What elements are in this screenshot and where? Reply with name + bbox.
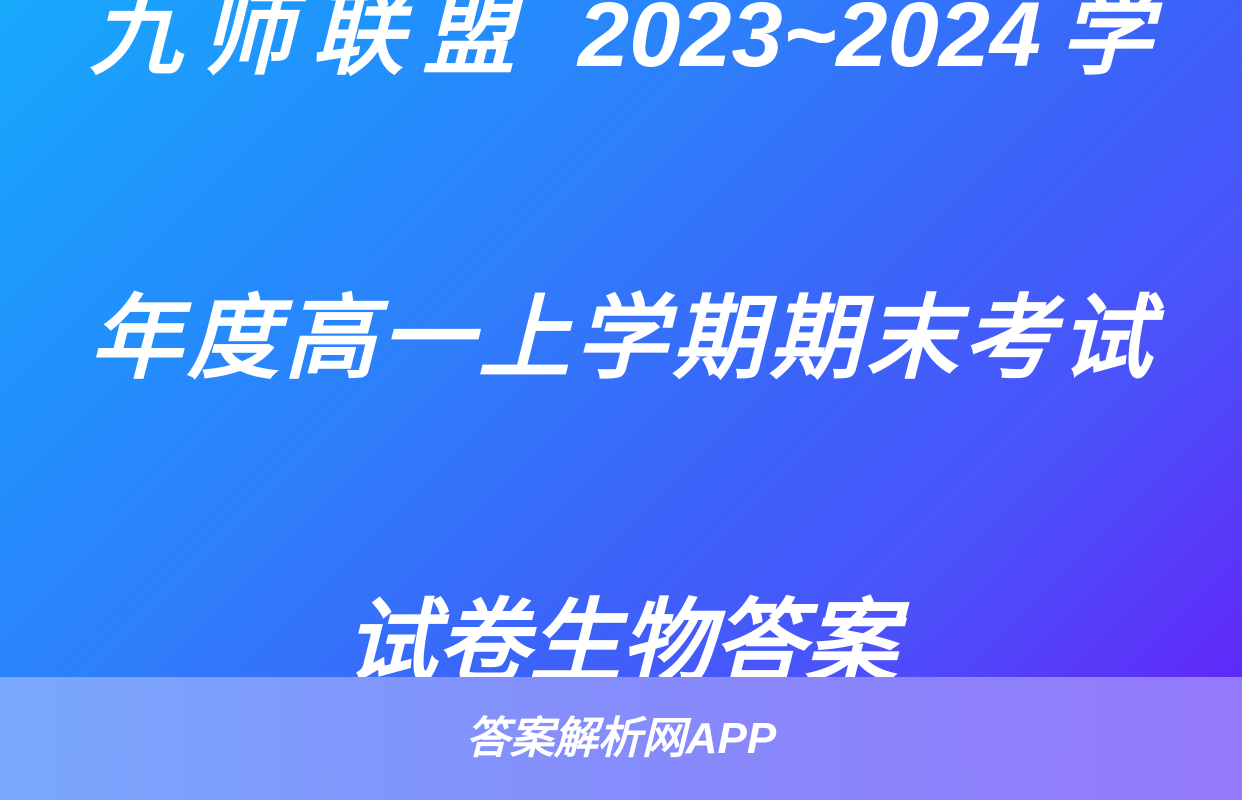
poster-root: 九师联盟 2023~2024学 年度高一上学期期末考试 试卷生物答案 答案解析网… xyxy=(0,0,1242,800)
footer-brand-bar: 答案解析网APP xyxy=(0,677,1242,800)
page-title-line-2: 年度高一上学期期末考试 xyxy=(90,263,1152,415)
hero-banner: 九师联盟 2023~2024学 年度高一上学期期末考试 试卷生物答案 xyxy=(0,0,1242,677)
page-title-line-1: 九师联盟 2023~2024学 xyxy=(90,0,1152,111)
app-brand-label: 答案解析网APP xyxy=(466,717,776,761)
